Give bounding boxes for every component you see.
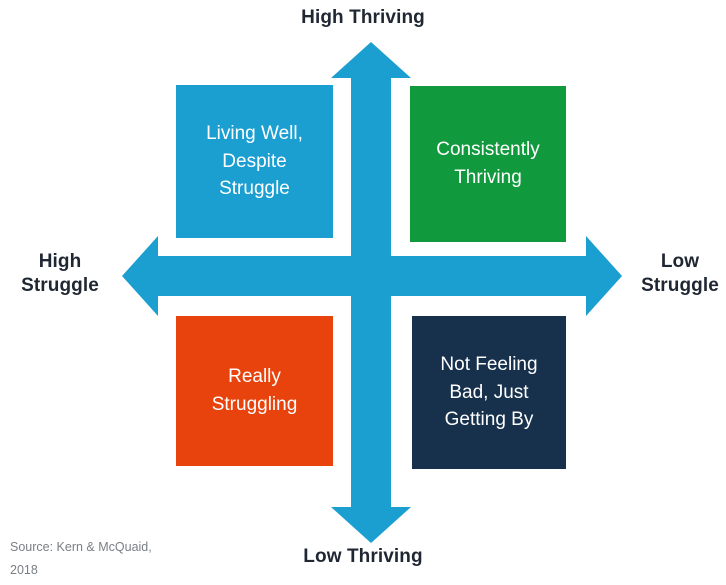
quadrant-not-feeling-bad-just-getting-by[interactable]: Not Feeling Bad, Just Getting By bbox=[412, 316, 566, 469]
diagram-canvas: High Thriving Low Thriving High Struggle… bbox=[0, 0, 726, 585]
quadrant-label-really-struggling: Really Struggling bbox=[212, 363, 298, 418]
quadrant-really-struggling[interactable]: Really Struggling bbox=[176, 316, 333, 466]
quadrant-living-well-despite-struggle[interactable]: Living Well, Despite Struggle bbox=[176, 85, 333, 238]
source-citation: Source: Kern & McQuaid, 2018 bbox=[10, 536, 170, 582]
quadrant-label-consistently-thriving: Consistently Thriving bbox=[436, 136, 540, 191]
quadrant-consistently-thriving[interactable]: Consistently Thriving bbox=[410, 86, 566, 242]
quadrant-label-not-feeling-bad: Not Feeling Bad, Just Getting By bbox=[440, 351, 537, 434]
quadrant-label-living-well: Living Well, Despite Struggle bbox=[206, 120, 303, 203]
axis-cross-arrows bbox=[0, 0, 726, 585]
